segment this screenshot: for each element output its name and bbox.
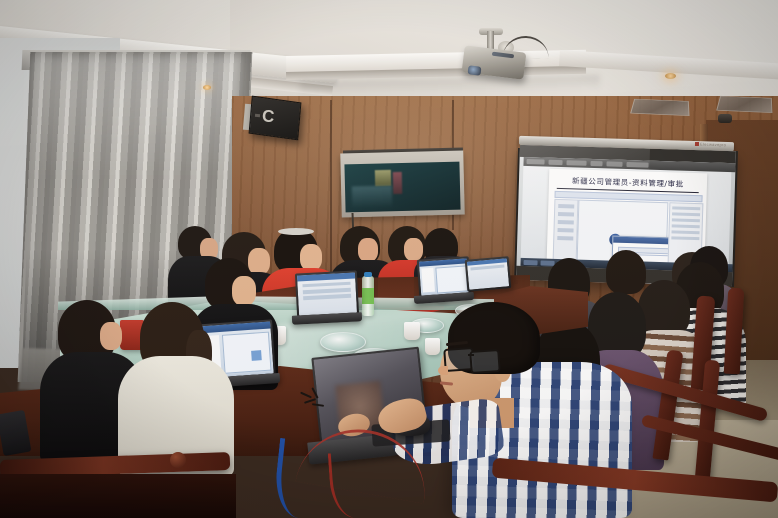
chair-seat [0,474,236,518]
window-reflection [393,172,403,194]
toolbar-item [526,159,544,165]
hair-band [278,228,314,235]
sidebar-item [557,228,573,232]
ui-main [436,265,469,293]
sidebar-item [558,212,574,216]
toolbar-item [590,161,602,166]
ui-sidebar [421,267,435,292]
eyeglasses-bridge [468,354,474,356]
ui-row [302,288,351,294]
panel-row [671,230,699,234]
taskbar-item [540,260,554,265]
power-cable [328,451,372,518]
ui-row [471,265,505,270]
laptop-display [419,258,469,295]
window-reflection [375,170,391,186]
ui-main [222,332,271,374]
toolbar-item [606,161,622,166]
laptop-ui [297,273,357,316]
panel-row [672,218,700,222]
toolbar-item [548,160,562,165]
network-cable [272,438,325,518]
attendee-face [232,276,256,306]
paper-cup [404,322,420,340]
nose [438,366,448,375]
laptop-screen [417,256,472,298]
ui-row [302,282,351,288]
attendee-face [300,244,322,271]
panel-row [672,224,700,228]
bottle-label [362,288,374,304]
laptop-screen [295,270,359,317]
laptop-ui [467,258,509,289]
panel-row [671,236,699,240]
downlight-icon [665,73,676,79]
attendee-face [248,248,270,275]
laptop-ui [419,258,469,295]
speaker-led [255,114,260,117]
ui-row [303,294,352,300]
attendee-hair [606,250,646,294]
chair-knob [170,452,186,468]
taskbar-item [524,259,538,264]
air-vent [716,96,772,113]
eyeglasses-icon [469,349,501,374]
attendee-face [100,322,122,350]
air-vent [630,99,689,116]
attendee-face [358,238,378,262]
window-reflection [352,186,393,209]
speaker-label: C [261,106,281,127]
water-bottle [362,276,374,316]
panel-row [672,212,700,216]
glass-ashtray [320,332,366,352]
toolbar-item [566,160,586,166]
ui-icon [251,350,261,361]
sidebar-item [558,220,574,224]
attendee-face [404,238,423,261]
sidebar-item [557,236,573,240]
cable [312,403,324,407]
sidebar-item [558,204,574,208]
curtain-highlight [28,55,243,175]
downlight-icon [203,85,211,90]
laptop-display [297,273,357,316]
projector-lens [468,65,482,76]
bottle-cap [364,272,372,277]
laptop-display [467,258,509,289]
conference-room-photo: C Elecwavepro 新疆公司管理员-资料管理/审批 [0,0,778,518]
cable-bundle [300,390,326,412]
cable [300,392,312,399]
wall-panel-seam [330,100,332,300]
ui-titlebar [297,273,355,282]
laptop-screen [465,256,512,292]
brand-dot-icon [695,142,699,146]
panel-row [672,206,700,210]
paper-cup [425,338,440,355]
screen-brand-label: Elecwavepro [700,142,732,149]
wall-sensor [718,114,732,123]
toolbar-item [626,162,648,168]
